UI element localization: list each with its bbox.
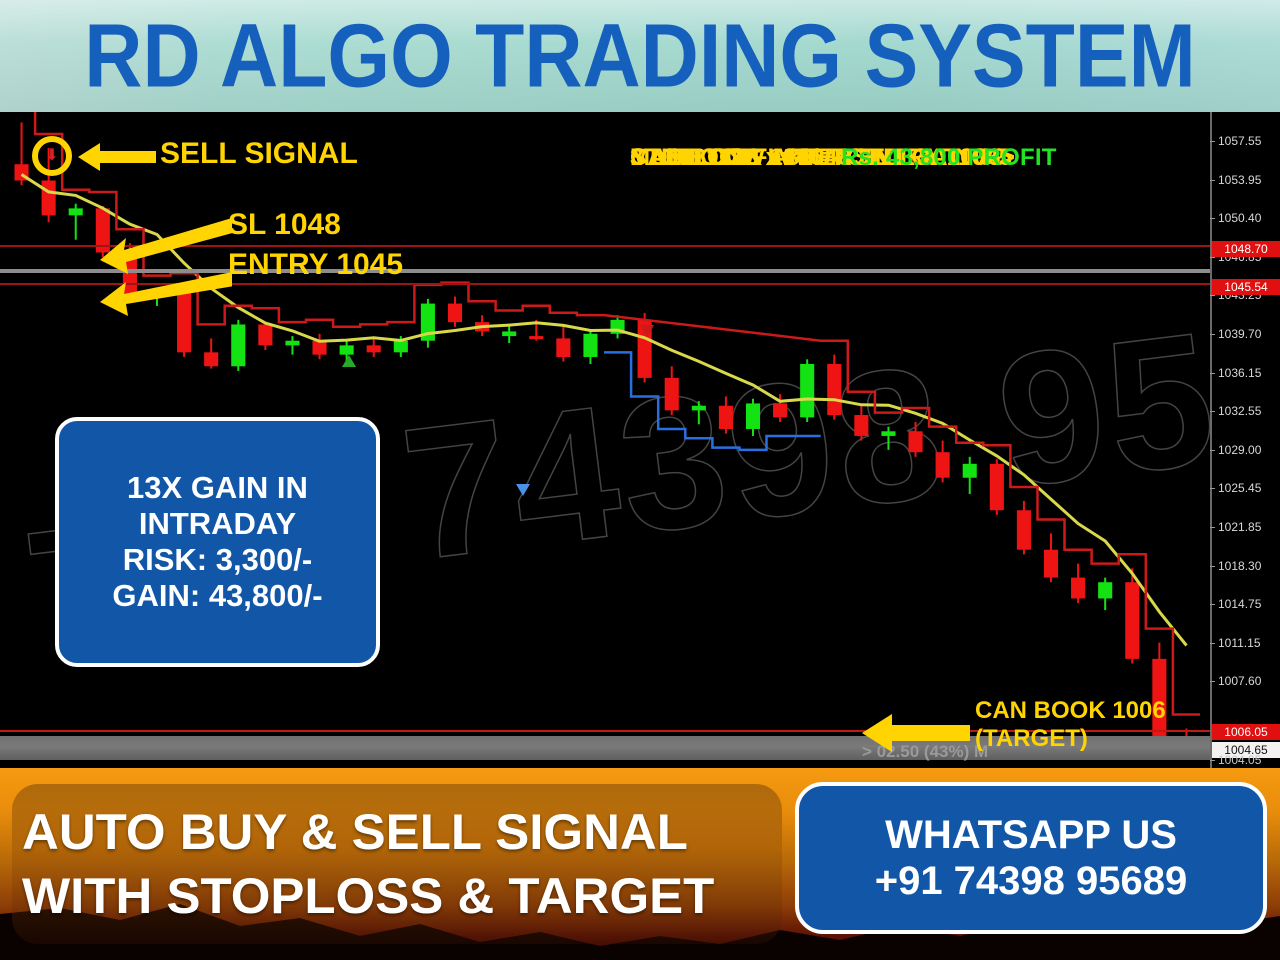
partial-price-label: 1004.05 (1218, 753, 1261, 767)
price-tick: 1029.00 (1218, 443, 1261, 457)
tagline-text: AUTO BUY & SELL SIGNAL WITH STOPLOSS & T… (0, 768, 782, 960)
target-price-tag: 1006.05 (1212, 724, 1280, 740)
tagline-line-1: AUTO BUY & SELL SIGNAL (22, 800, 688, 864)
buy-arrow-icon (516, 484, 530, 496)
target-arrow-icon (862, 710, 970, 756)
stats-line-3: RISK: 3,300/- (123, 542, 313, 578)
price-axis: 1057.551053.951050.401046.851043.251039.… (1210, 112, 1280, 768)
whatsapp-number: +91 74398 95689 (875, 858, 1188, 904)
price-tick: 1011.15 (1218, 636, 1261, 650)
price-tick: 1050.40 (1218, 211, 1261, 225)
price-tick: 1025.45 (1218, 481, 1261, 495)
whatsapp-cta[interactable]: WHATSAPP US +91 74398 95689 (795, 782, 1267, 934)
annotation-sl: SL 1048 (228, 208, 341, 242)
annotation-sell-signal: SELL SIGNAL (160, 137, 358, 171)
trading-chart: +91 74398 95689 > 02.50 (43%) M (0, 112, 1280, 768)
price-tick: 1007.60 (1218, 674, 1261, 688)
price-tick: 1032.55 (1218, 404, 1261, 418)
tagline-line-2: WITH STOPLOSS & TARGET (22, 864, 714, 928)
stats-line-4: GAIN: 43,800/- (112, 578, 322, 614)
annotation-target-line2: (TARGET) (975, 725, 1166, 753)
info-profit-prefix: 3 LOT 1125 x 39 = (630, 144, 841, 171)
info-profit-amount: Rs. 43,800 PROFIT (841, 144, 1057, 171)
chart-plot-area: +91 74398 95689 > 02.50 (43%) M (0, 112, 1210, 768)
entry-price-tag: 1045.54 (1212, 279, 1280, 295)
down-arrow-icon: ⬇ (45, 148, 58, 164)
stoploss-price-tag: 1048.70 (1212, 241, 1280, 257)
poster-footer: AUTO BUY & SELL SIGNAL WITH STOPLOSS & T… (0, 768, 1280, 960)
stats-line-1: 13X GAIN IN (127, 470, 308, 506)
price-tick: 1021.85 (1218, 520, 1261, 534)
price-tick: 1036.15 (1218, 366, 1261, 380)
price-tick: 1014.75 (1218, 597, 1261, 611)
poster-root: RD ALGO TRADING SYSTEM +91 74398 95689 (0, 0, 1280, 960)
annotation-target-line1: CAN BOOK 1006 (975, 697, 1166, 725)
sell-signal-arrow-icon (78, 140, 156, 174)
entry-arrow-icon (100, 264, 232, 316)
info-line-profit: 3 LOT 1125 x 39 = Rs. 43,800 PROFIT (630, 140, 1057, 176)
stats-line-2: INTRADAY (139, 506, 296, 542)
price-tick: 1057.55 (1218, 134, 1261, 148)
page-title: RD ALGO TRADING SYSTEM (0, 0, 1280, 112)
buy-arrow-icon (342, 355, 356, 367)
sell-signal-circle-marker: ⬇ (32, 136, 72, 176)
price-tick: 1053.95 (1218, 173, 1261, 187)
whatsapp-label: WHATSAPP US (885, 812, 1177, 858)
poster-header: RD ALGO TRADING SYSTEM (0, 0, 1280, 112)
price-tick: 1039.70 (1218, 327, 1261, 341)
stats-panel: 13X GAIN IN INTRADAY RISK: 3,300/- GAIN:… (55, 417, 380, 667)
price-tick: 1018.30 (1218, 559, 1261, 573)
annotation-target: CAN BOOK 1006 (TARGET) (975, 697, 1166, 754)
annotation-entry: ENTRY 1045 (228, 248, 403, 282)
